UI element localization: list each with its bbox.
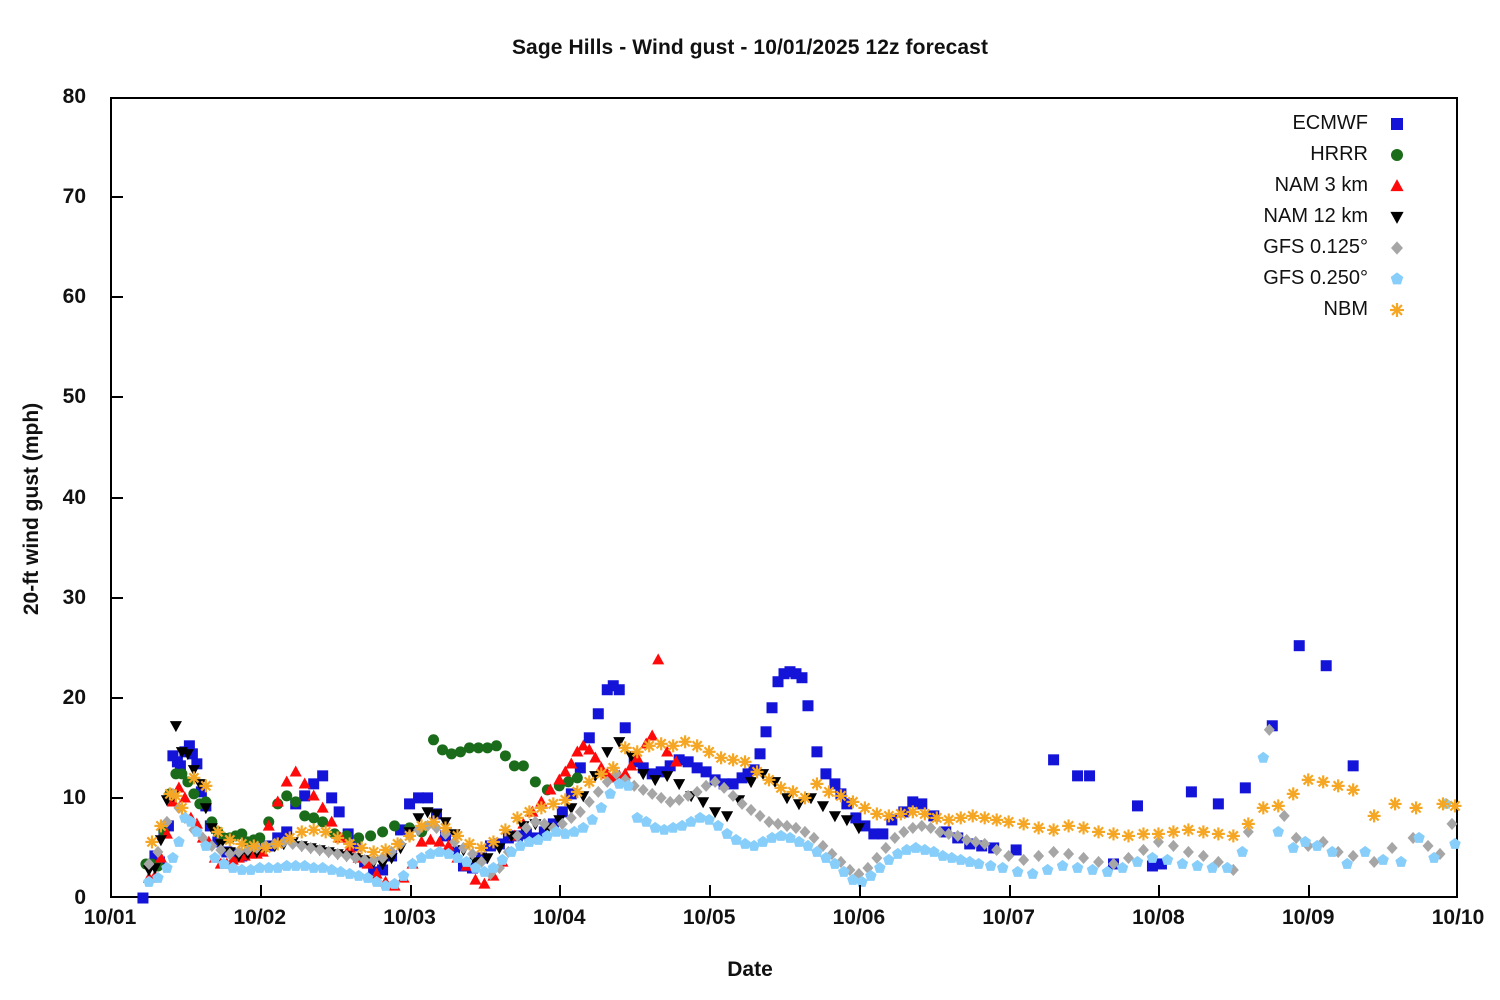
x-axis-title: Date [0, 958, 1500, 982]
legend-item-label: NAM 12 km [1264, 205, 1384, 228]
y-axis-tick-mark [110, 697, 123, 699]
legend-item-label: NAM 3 km [1275, 174, 1384, 197]
pentagon-marker-icon [1384, 268, 1410, 290]
y-axis-tick-label: 80 [16, 85, 86, 109]
y-axis-tick-mark [110, 396, 123, 398]
y-axis-title: 20-ft wind gust (mph) [20, 329, 44, 689]
x-axis-tick-mark [260, 885, 262, 898]
x-axis-tick-mark [410, 885, 412, 898]
legend-item-label: GFS 0.250° [1263, 267, 1384, 290]
y-axis-tick-mark [110, 196, 123, 198]
x-axis-tick-mark [859, 885, 861, 898]
x-axis-tick-label: 10/03 [330, 906, 490, 930]
y-axis-tick-label: 70 [16, 185, 86, 209]
y-axis-tick-label: 60 [16, 285, 86, 309]
x-axis-tick-mark [1158, 885, 1160, 898]
legend-item-label: GFS 0.125° [1263, 236, 1384, 259]
y-axis-tick-mark [110, 797, 123, 799]
x-axis-tick-label: 10/05 [629, 906, 789, 930]
x-axis-tick-label: 10/07 [929, 906, 1089, 930]
x-axis-tick-label: 10/08 [1078, 906, 1238, 930]
x-axis-tick-label: 10/09 [1228, 906, 1388, 930]
circle-marker-icon [1384, 144, 1410, 166]
legend-item-nbm[interactable]: NBM [1185, 294, 1410, 325]
y-axis-tick-mark [110, 597, 123, 599]
legend-item-nam-3-km[interactable]: NAM 3 km [1185, 170, 1410, 201]
legend-item-gfs-0-125[interactable]: GFS 0.125° [1185, 232, 1410, 263]
legend-item-label: HRRR [1310, 143, 1384, 166]
legend-item-ecmwf[interactable]: ECMWF [1185, 108, 1410, 139]
diamond-marker-icon [1384, 237, 1410, 259]
series-gfs-0-250 [143, 752, 1461, 891]
x-axis-tick-mark [559, 885, 561, 898]
legend-item-label: NBM [1324, 298, 1384, 321]
x-axis-tick-mark [1009, 885, 1011, 898]
legend-item-label: ECMWF [1292, 112, 1384, 135]
asterisk-marker-icon [1384, 299, 1410, 321]
triangle-up-marker-icon [1384, 175, 1410, 197]
y-axis-tick-mark [110, 296, 123, 298]
x-axis-tick-mark [709, 885, 711, 898]
x-axis-tick-mark [1308, 885, 1310, 898]
x-axis-tick-label: 10/10 [1378, 906, 1500, 930]
x-axis-tick-label: 10/02 [180, 906, 340, 930]
x-axis-tick-label: 10/06 [779, 906, 939, 930]
page-title: Sage Hills - Wind gust - 10/01/2025 12z … [0, 36, 1500, 60]
legend-item-nam-12-km[interactable]: NAM 12 km [1185, 201, 1410, 232]
x-axis-tick-label: 10/04 [479, 906, 639, 930]
x-axis-tick-label: 10/01 [30, 906, 190, 930]
y-axis-tick-label: 10 [16, 786, 86, 810]
legend: ECMWFHRRRNAM 3 kmNAM 12 kmGFS 0.125°GFS … [1185, 108, 1410, 325]
y-axis-tick-label: 20 [16, 686, 86, 710]
legend-item-gfs-0-250[interactable]: GFS 0.250° [1185, 263, 1410, 294]
legend-item-hrrr[interactable]: HRRR [1185, 139, 1410, 170]
square-marker-icon [1384, 113, 1410, 135]
triangle-down-marker-icon [1384, 206, 1410, 228]
y-axis-tick-mark [110, 497, 123, 499]
